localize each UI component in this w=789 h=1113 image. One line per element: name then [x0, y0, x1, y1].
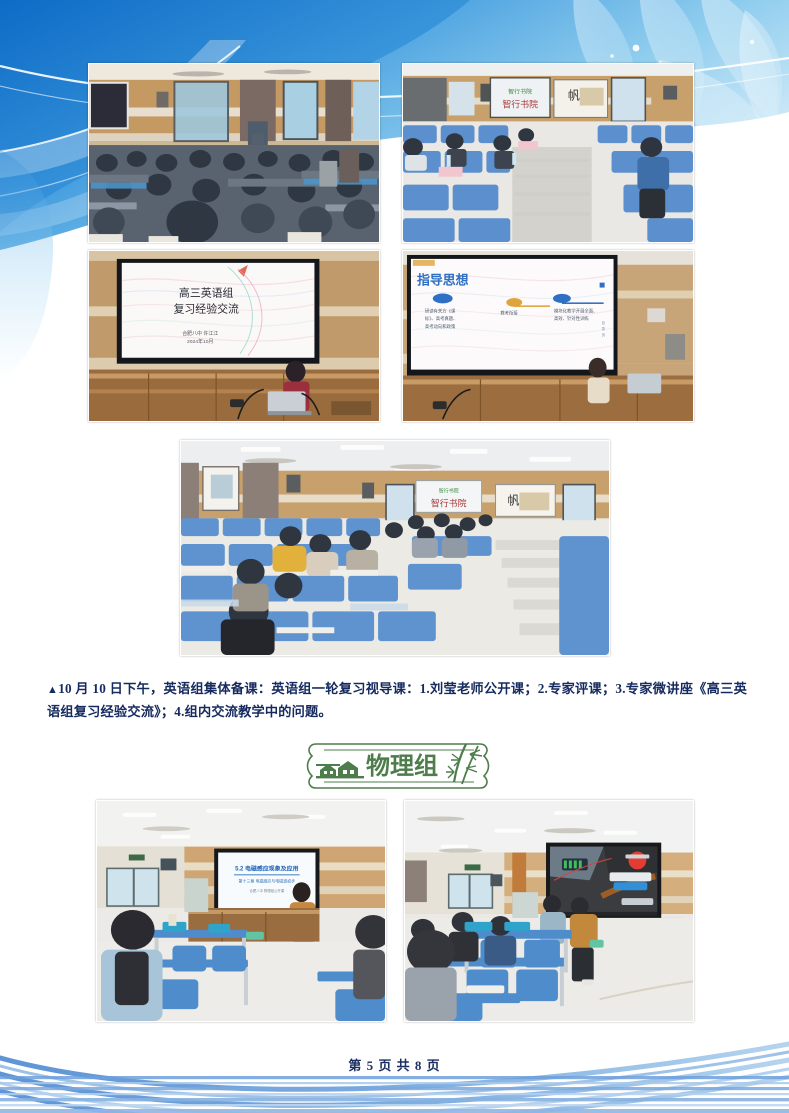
photo-lecture-hall-teachers: 智行书院 智行书院 帆	[402, 63, 694, 243]
svg-text:合肥八中 物理组公开课: 合肥八中 物理组公开课	[250, 888, 285, 893]
svg-text:标》、高考真题、: 标》、高考真题、	[425, 315, 458, 322]
svg-text:教考衔接: 教考衔接	[500, 309, 518, 316]
svg-text:高考动向和政策: 高考动向和政策	[425, 323, 456, 330]
caption-text: 10 月 10 日下午，英语组集体备课：英语组一轮复习视导课：1.刘莹老师公开课…	[47, 681, 747, 719]
figure-caption: ▲10 月 10 日下午，英语组集体备课：英语组一轮复习视导课：1.刘莹老师公开…	[47, 678, 747, 722]
caption-marker: ▲	[47, 684, 58, 696]
photo-physics-experiment	[404, 800, 694, 1022]
svg-text:智行书院: 智行书院	[502, 99, 538, 110]
svg-text:高效、针对性训练: 高效、针对性训练	[554, 315, 589, 322]
photo-english-classroom-students	[88, 63, 380, 243]
svg-text:智行书院: 智行书院	[508, 88, 532, 96]
photo-physics-presentation: 5.2 电磁感应现象及应用 第十三章 电磁感应与电磁波初步 合肥八中 物理组公开…	[96, 800, 386, 1022]
svg-text:研读有关方《课: 研读有关方《课	[425, 307, 456, 314]
svg-text:智行书院: 智行书院	[431, 497, 467, 508]
svg-text:第十三章 电磁感应与电磁波初步: 第十三章 电磁感应与电磁波初步	[239, 878, 296, 883]
page-footer: 第 5 页 共 8 页	[0, 1055, 789, 1074]
svg-text:指导思想: 指导思想	[417, 273, 469, 288]
svg-text:目: 目	[602, 321, 605, 325]
svg-text:复习经验交流: 复习经验交流	[173, 301, 239, 315]
svg-text:合肥八中 许江江: 合肥八中 许江江	[182, 330, 218, 337]
photo-slide-guiding-ideology: 指导思想 研读有关方《课 标》、高考真题、 高考动向和政策 教考衔接 模块化教学…	[402, 250, 694, 422]
photo-lecture-hall-wide: 智行书院 智行书院 帆	[180, 440, 610, 656]
svg-text:帆: 帆	[507, 493, 519, 507]
svg-text:5.2 电磁感应现象及应用: 5.2 电磁感应现象及应用	[235, 864, 298, 872]
group-badge-physics: 物理组	[304, 734, 494, 796]
svg-text:智行书院: 智行书院	[439, 488, 459, 495]
badge-label: 物理组	[366, 753, 438, 780]
svg-text:高三英语组: 高三英语组	[179, 285, 234, 299]
svg-text:模块化教学开展全面、: 模块化教学开展全面、	[554, 307, 598, 314]
svg-text:帆: 帆	[568, 89, 580, 103]
badge-buildings-icon	[316, 761, 364, 778]
photo-slide-title: 高三英语组 复习经验交流 合肥八中 许江江 2024年10月	[88, 250, 380, 422]
document-page: 智行书院 智行书院 帆	[0, 0, 789, 1113]
svg-text:2024年10月: 2024年10月	[187, 338, 213, 345]
